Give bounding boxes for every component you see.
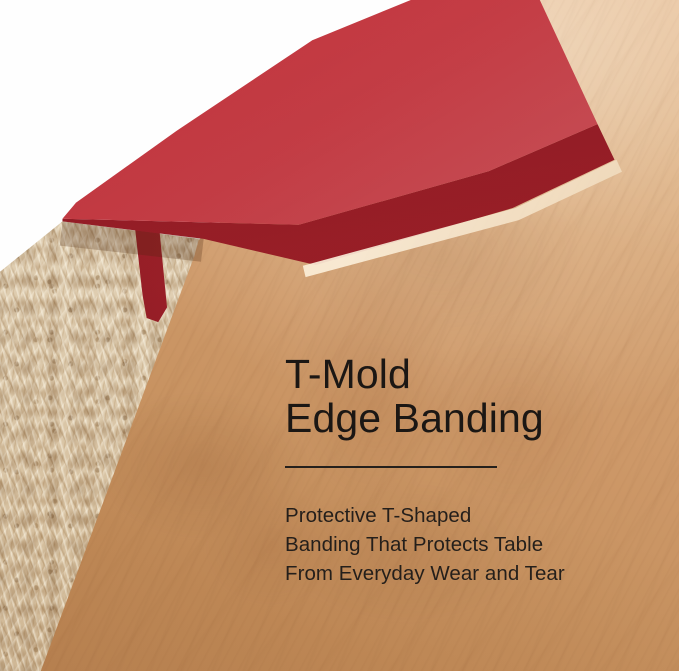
product-photo-scene: T-Mold Edge Banding Protective T-Shaped …: [0, 0, 679, 671]
page-title: T-Mold Edge Banding: [285, 352, 655, 440]
title-divider: [285, 466, 497, 468]
marketing-copy: T-Mold Edge Banding Protective T-Shaped …: [285, 352, 655, 588]
product-description: Protective T-Shaped Banding That Protect…: [285, 501, 655, 588]
